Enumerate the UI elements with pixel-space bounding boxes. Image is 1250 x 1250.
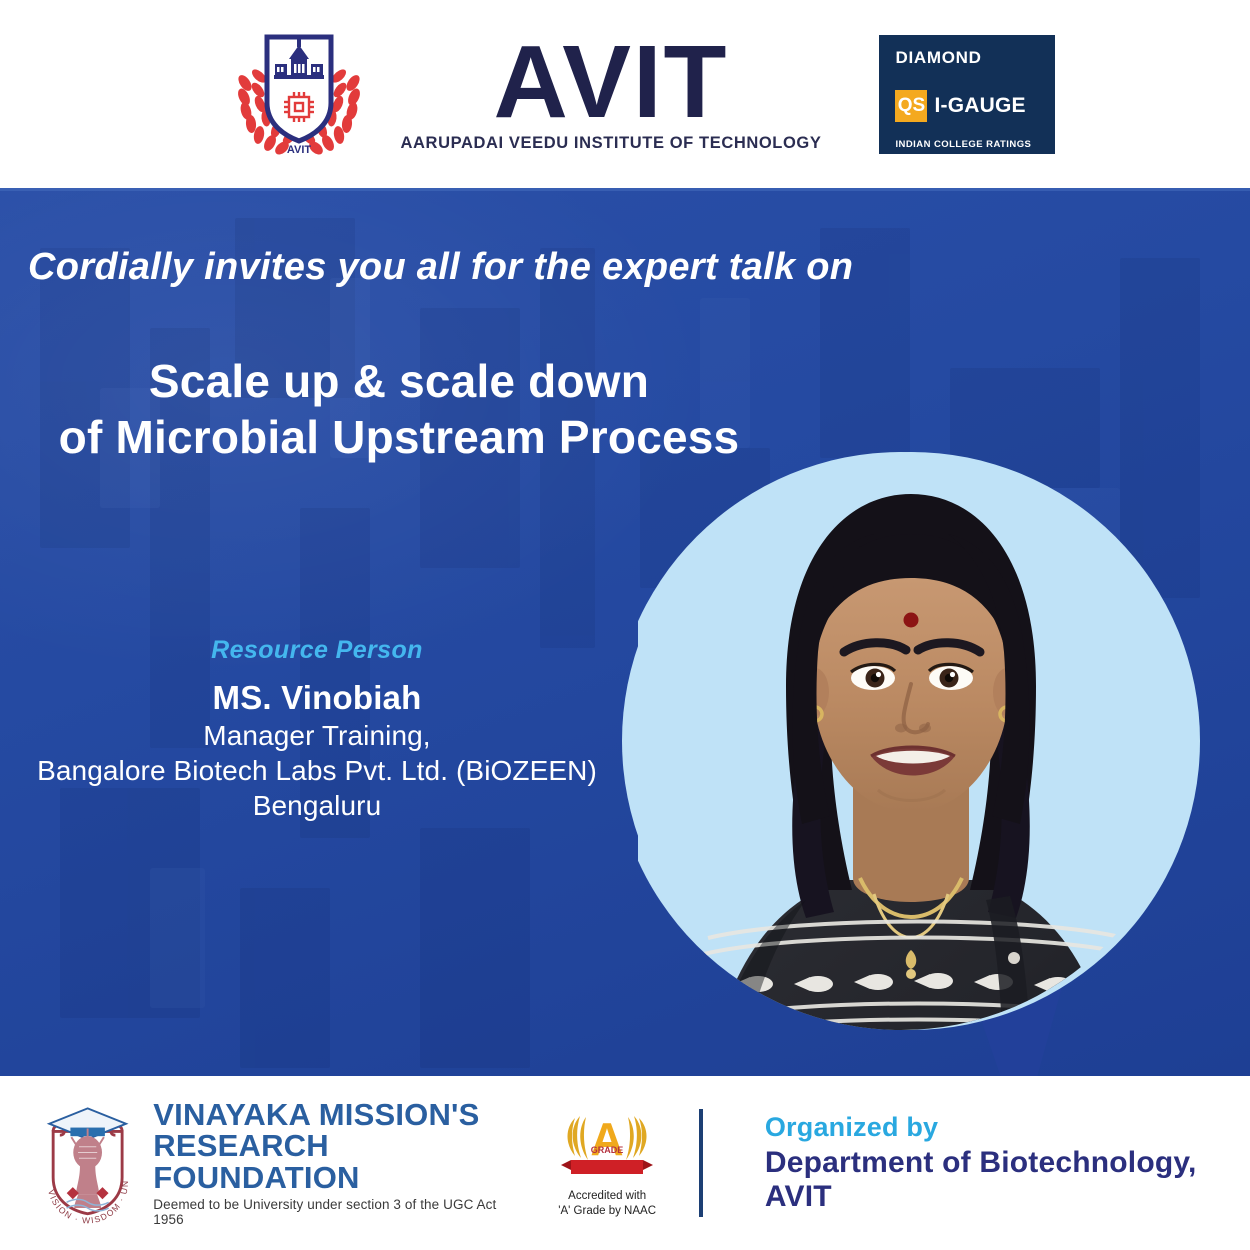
organizer-block: Organized by Department of Biotechnology… <box>765 1112 1250 1214</box>
vmrf-logo-block: VISION · WISDOM · UNITY VINAYAKA MISSION… <box>34 1099 527 1228</box>
vmrf-line-2: RESEARCH FOUNDATION <box>153 1130 527 1193</box>
qs-logo-icon: QS <box>895 90 927 122</box>
organizer-department: Department of Biotechnology, AVIT <box>765 1146 1250 1214</box>
avit-wordmark-subtitle: AARUPADAI VEEDU INSTITUTE OF TECHNOLOGY <box>401 134 822 153</box>
vmrf-shield-logo-icon: VISION · WISDOM · UNITY <box>34 1100 141 1226</box>
speaker-city: Bengaluru <box>0 789 634 822</box>
speaker-name: MS. Vinobiah <box>0 679 634 717</box>
speaker-block: Resource Person MS. Vinobiah Manager Tra… <box>0 636 634 822</box>
naac-a-grade-icon: A GRADE <box>555 1108 659 1182</box>
svg-text:AVIT: AVIT <box>286 144 311 156</box>
speaker-portrait <box>638 438 1184 1076</box>
avit-wordmark-text: AVIT <box>494 35 729 130</box>
poster-canvas: AVIT AVIT AARUPADAI VEEDU INSTITUTE OF T… <box>0 0 1250 1250</box>
vmrf-line-1: VINAYAKA MISSION'S <box>153 1099 527 1131</box>
speaker-organization: Bangalore Biotech Labs Pvt. Ltd. (BiOZEE… <box>0 754 634 787</box>
speaker-photo-bubble <box>612 450 1250 1076</box>
naac-caption-line-1: Accredited with <box>553 1189 660 1203</box>
avit-shield-crest-icon: AVIT <box>231 31 367 157</box>
svg-text:A: A <box>591 1113 624 1165</box>
resource-person-label: Resource Person <box>0 636 634 665</box>
naac-accreditation-block: A GRADE Accredited with 'A' Grade by NAA… <box>553 1108 660 1218</box>
avit-wordmark: AVIT AARUPADAI VEEDU INSTITUTE OF TECHNO… <box>401 35 822 153</box>
header-bar: AVIT AVIT AARUPADAI VEEDU INSTITUTE OF T… <box>0 0 1250 188</box>
qs-igauge-label: I-GAUGE <box>934 94 1025 118</box>
talk-title-line-1: Scale up & scale down <box>149 355 649 407</box>
qs-igauge-badge: DIAMOND QS I-GAUGE INDIAN COLLEGE RATING… <box>879 35 1055 154</box>
footer-bar: VISION · WISDOM · UNITY VINAYAKA MISSION… <box>0 1076 1250 1250</box>
qs-tier-label: DIAMOND <box>895 48 1055 68</box>
main-panel: Cordially invites you all for the expert… <box>0 188 1250 1076</box>
svg-text:GRADE: GRADE <box>591 1145 624 1155</box>
invite-line: Cordially invites you all for the expert… <box>28 246 848 289</box>
organized-by-label: Organized by <box>765 1112 1250 1143</box>
naac-caption-line-2: 'A' Grade by NAAC <box>553 1204 660 1218</box>
footer-divider <box>699 1109 703 1217</box>
vmrf-subtitle: Deemed to be University under section 3 … <box>153 1197 527 1227</box>
qs-subtitle: INDIAN COLLEGE RATINGS <box>895 139 1055 150</box>
speaker-designation: Manager Training, <box>0 719 634 752</box>
